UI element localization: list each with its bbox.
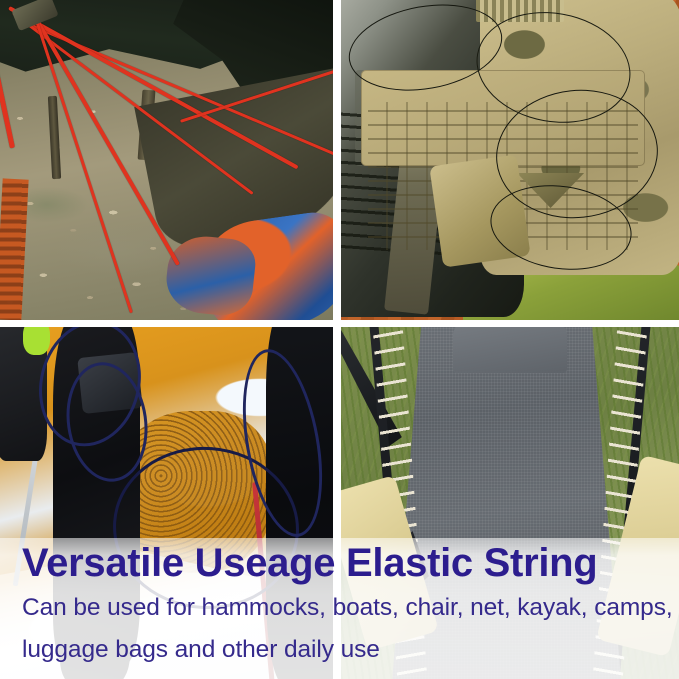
green-jacket-accent — [23, 327, 50, 355]
photo-hammock-tarp — [0, 0, 333, 320]
photo-tactical-backpack — [341, 0, 679, 320]
caption-band: Versatile Useage Elastic String Can be u… — [0, 538, 679, 679]
product-collage-page: Versatile Useage Elastic String Can be u… — [0, 0, 679, 679]
tactical-gear-scene — [341, 0, 679, 320]
caption-line-2: luggage bags and other daily use — [22, 636, 380, 664]
headrest-pillow — [453, 327, 568, 373]
caption-line-1: Can be used for hammocks, boats, chair, … — [22, 594, 673, 622]
hammock-tarp-scene — [0, 0, 333, 320]
caption-headline: Versatile Useage Elastic String — [22, 541, 597, 586]
